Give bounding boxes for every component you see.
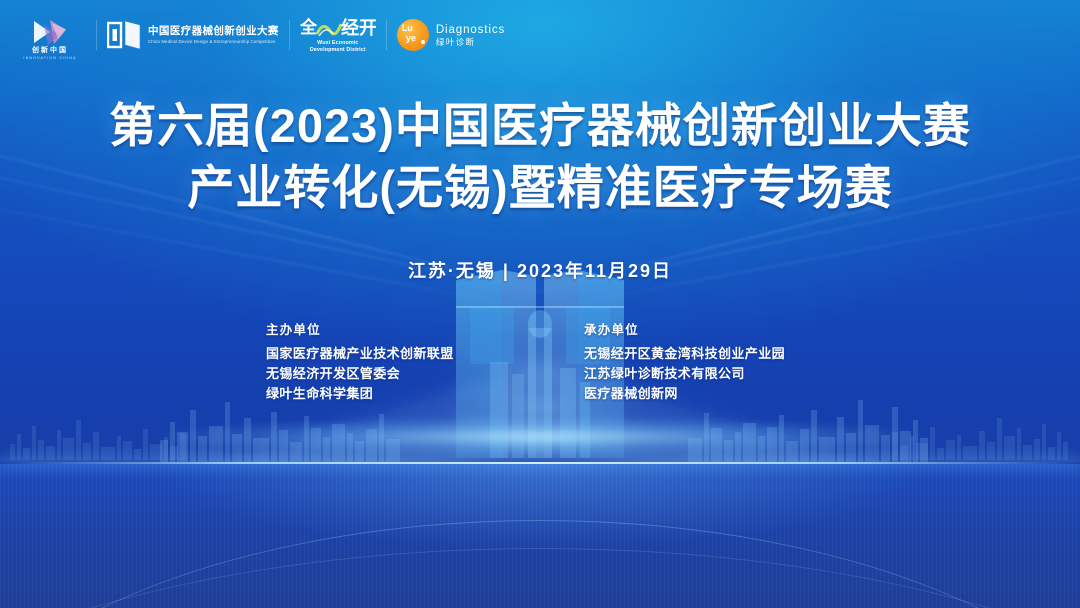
title-line-1: 第六届(2023)中国医疗器械创新创业大赛 [0,95,1080,157]
host-item: 无锡经济开发区管委会 [266,364,496,384]
logo-divider-1 [96,20,97,50]
logo-wuxi-edd-en1: Wuxi Economic [317,40,358,47]
svg-text:经开: 经开 [341,17,376,38]
event-dateline: 江苏·无锡 | 2023年11月29日 [0,258,1080,284]
poster-title: 第六届(2023)中国医疗器械创新创业大赛 产业转化(无锡)暨精准医疗专场赛 [0,95,1080,219]
svg-text:全: 全 [300,17,318,37]
horizon-line [0,462,1080,464]
logo-cmdc[interactable]: 中国医疗器械创新创业大赛 China Medical Device Design… [107,20,279,50]
host-item: 国家医疗器械产业技术创新联盟 [266,344,496,364]
host-heading: 主办单位 [266,320,496,340]
cmdc-door-icon [107,20,141,50]
logo-innovation-china[interactable]: 创新中国 INNOVATION CHINA [14,9,86,61]
logo-innovation-china-en: INNOVATION CHINA [23,55,76,61]
sponsor-logo-bar: 创新中国 INNOVATION CHINA 中国医疗器械创新创业大赛 China… [0,0,1080,70]
innovation-china-icon [30,17,70,47]
logo-wuxi-edd-en2: Development District [310,47,366,54]
event-poster: 创新中国 INNOVATION CHINA 中国医疗器械创新创业大赛 China… [0,0,1080,608]
city-skyline-far [10,420,188,460]
luye-dot-icon [421,40,425,44]
logo-wuxi-edd[interactable]: 全 经开 Wuxi Economic Development District [300,16,376,54]
coorganizer-item: 无锡经开区黄金湾科技创业产业园 [584,344,814,364]
host-item: 绿叶生命科学集团 [266,384,496,404]
logo-divider-2 [289,20,290,50]
title-line-2: 产业转化(无锡)暨精准医疗专场赛 [0,157,1080,219]
organizer-section: 主办单位 国家医疗器械产业技术创新联盟 无锡经济开发区管委会 绿叶生命科学集团 … [0,320,1080,404]
city-skyline-mid-left [160,402,402,462]
coorganizer-column: 承办单位 无锡经开区黄金湾科技创业产业园 江苏绿叶诊断技术有限公司 医疗器械创新… [584,320,814,404]
luye-mark-line2: ye [406,34,416,43]
logo-cmdc-cn: 中国医疗器械创新创业大赛 [148,25,279,38]
city-skyline-mid-right [688,400,930,462]
wuxi-edd-wordmark-icon: 全 经开 [300,16,376,40]
logo-luye-cn: 绿叶诊断 [436,37,505,48]
coorganizer-item: 江苏绿叶诊断技术有限公司 [584,364,814,384]
logo-luye-diagnostics[interactable]: Lu ye Diagnostics 绿叶诊断 [397,19,505,51]
luye-circle-icon: Lu ye [397,19,429,51]
host-column: 主办单位 国家医疗器械产业技术创新联盟 无锡经济开发区管委会 绿叶生命科学集团 [266,320,496,404]
coorganizer-item: 医疗器械创新网 [584,384,814,404]
city-skyline-far-right [892,418,1070,460]
luye-mark-line1: Lu [402,24,413,33]
coorganizer-heading: 承办单位 [584,320,814,340]
logo-cmdc-en: China Medical Device Design & Entreprene… [148,38,279,45]
logo-divider-3 [386,20,387,50]
logo-luye-en: Diagnostics [436,23,505,37]
logo-innovation-china-cn: 创新中国 [32,47,68,55]
